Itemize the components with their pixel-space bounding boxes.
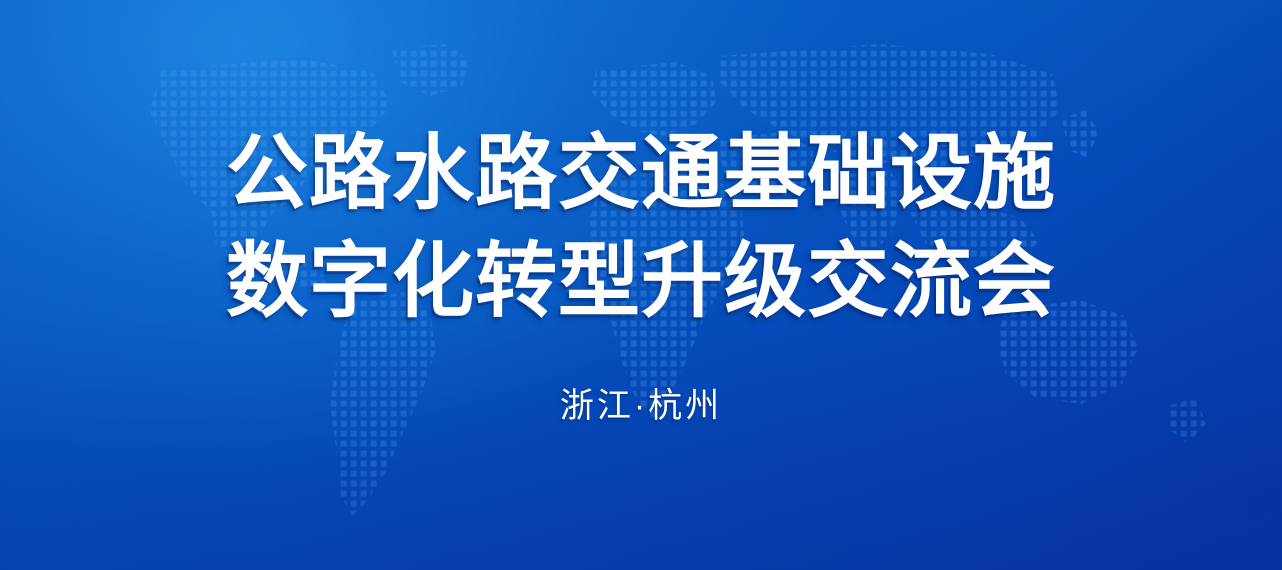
- banner-subtitle-location: 浙江·杭州: [560, 386, 722, 426]
- conference-banner: 公路水路交通基础设施 数字化转型升级交流会 浙江·杭州: [0, 0, 1282, 570]
- banner-text-block: 公路水路交通基础设施 数字化转型升级交流会 浙江·杭州: [0, 0, 1282, 570]
- banner-title-line-2: 数字化转型升级交流会: [226, 232, 1056, 332]
- banner-title-line-1: 公路水路交通基础设施: [226, 124, 1056, 224]
